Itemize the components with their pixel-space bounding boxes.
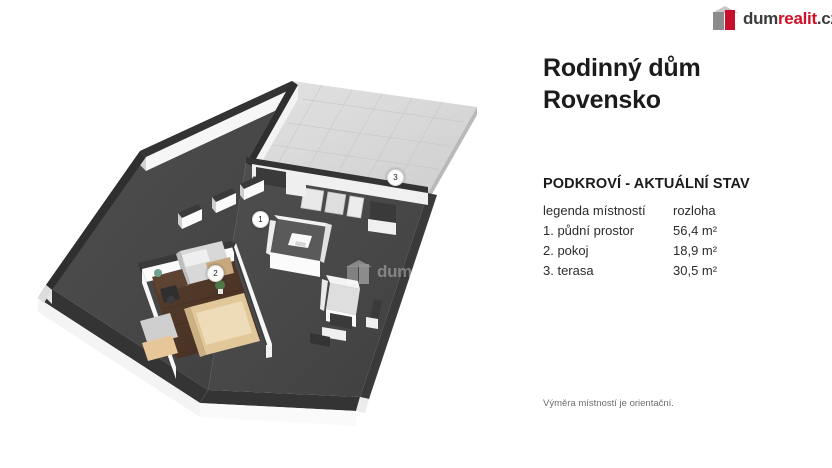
house-logo-icon: [712, 6, 738, 30]
legend-row-2-area: 18,9 m²: [673, 241, 783, 261]
brand-name-cz: .cz: [817, 9, 832, 28]
legend-row-1-area: 56,4 m²: [673, 221, 783, 241]
legend-row-3-area: 30,5 m²: [673, 261, 783, 281]
legend-col-area: rozloha: [673, 201, 783, 221]
legend-row-3: 3. terasa 30,5 m²: [543, 261, 813, 281]
legend-table: legenda místností rozloha 1. půdní prost…: [543, 201, 813, 282]
brand-name-realit: realit: [778, 9, 817, 28]
floorplan-svg: [30, 45, 510, 435]
title-line-1: Rodinný dům: [543, 52, 813, 84]
floorplan: 1 2 3 dum: [30, 45, 510, 435]
page-title: Rodinný dům Rovensko: [543, 52, 813, 116]
legend-heading: PODKROVÍ - AKTUÁLNÍ STAV: [543, 176, 813, 192]
brand-wordmark: dumrealit.cz: [743, 10, 832, 27]
room-marker-2[interactable]: 2: [207, 265, 224, 282]
room-marker-1[interactable]: 1: [252, 211, 269, 228]
legend-row-1: 1. půdní prostor 56,4 m²: [543, 221, 813, 241]
room-marker-3[interactable]: 3: [387, 169, 404, 186]
legend-row-1-name: 1. půdní prostor: [543, 221, 673, 241]
title-line-2: Rovensko: [543, 84, 813, 116]
legend-row-2-name: 2. pokoj: [543, 241, 673, 261]
brand-logo[interactable]: dumrealit.cz: [712, 6, 832, 30]
legend-row-2: 2. pokoj 18,9 m²: [543, 241, 813, 261]
legend-header-row: legenda místností rozloha: [543, 201, 813, 221]
legend-col-name: legenda místností: [543, 201, 673, 221]
footnote: Výměra místností je orientační.: [543, 398, 674, 409]
legend-row-3-name: 3. terasa: [543, 261, 673, 281]
info-panel: Rodinný dům Rovensko PODKROVÍ - AKTUÁLNÍ…: [543, 52, 813, 282]
brand-name-dum: dum: [743, 9, 778, 28]
